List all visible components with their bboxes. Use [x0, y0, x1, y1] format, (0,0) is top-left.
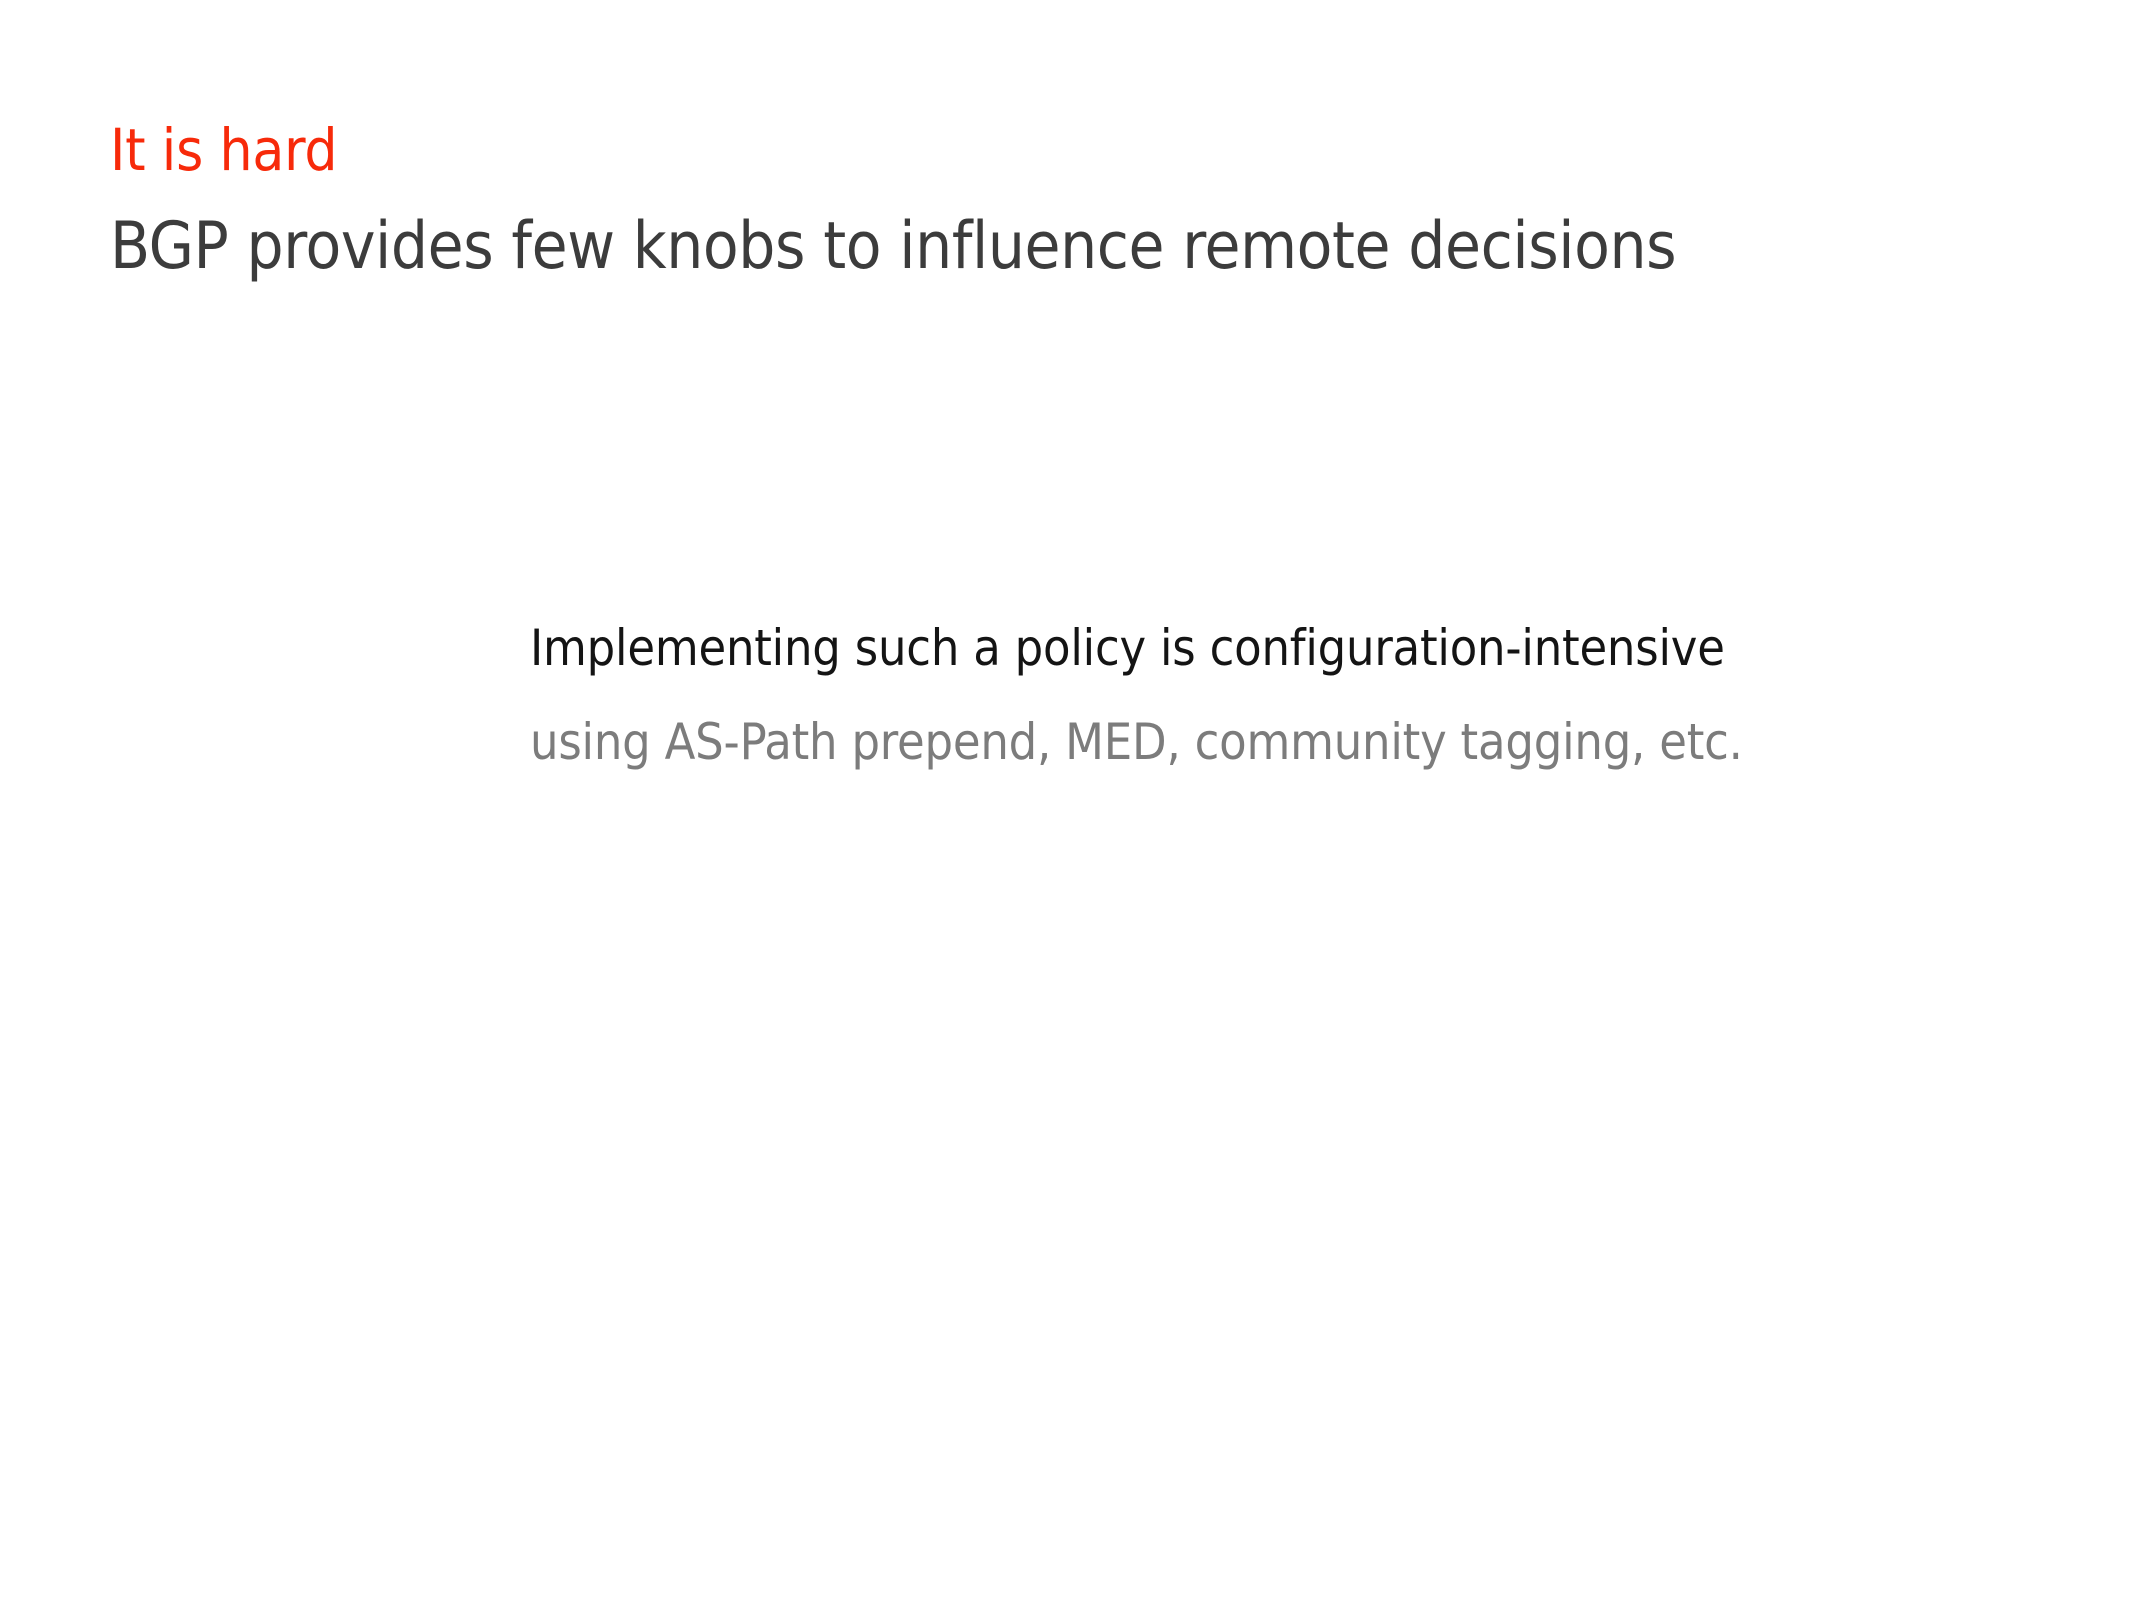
- presentation-slide: It is hard BGP provides few knobs to inf…: [0, 0, 2134, 1600]
- body-statement-primary: Implementing such a policy is configurat…: [530, 620, 2030, 676]
- page-title: BGP provides few knobs to influence remo…: [110, 211, 2010, 284]
- slide-kicker: It is hard: [110, 118, 2010, 183]
- body-statement-secondary: using AS-Path prepend, MED, community ta…: [530, 714, 2030, 770]
- slide-title-block: It is hard BGP provides few knobs to inf…: [110, 118, 2010, 284]
- slide-body-block: Implementing such a policy is configurat…: [530, 620, 2030, 770]
